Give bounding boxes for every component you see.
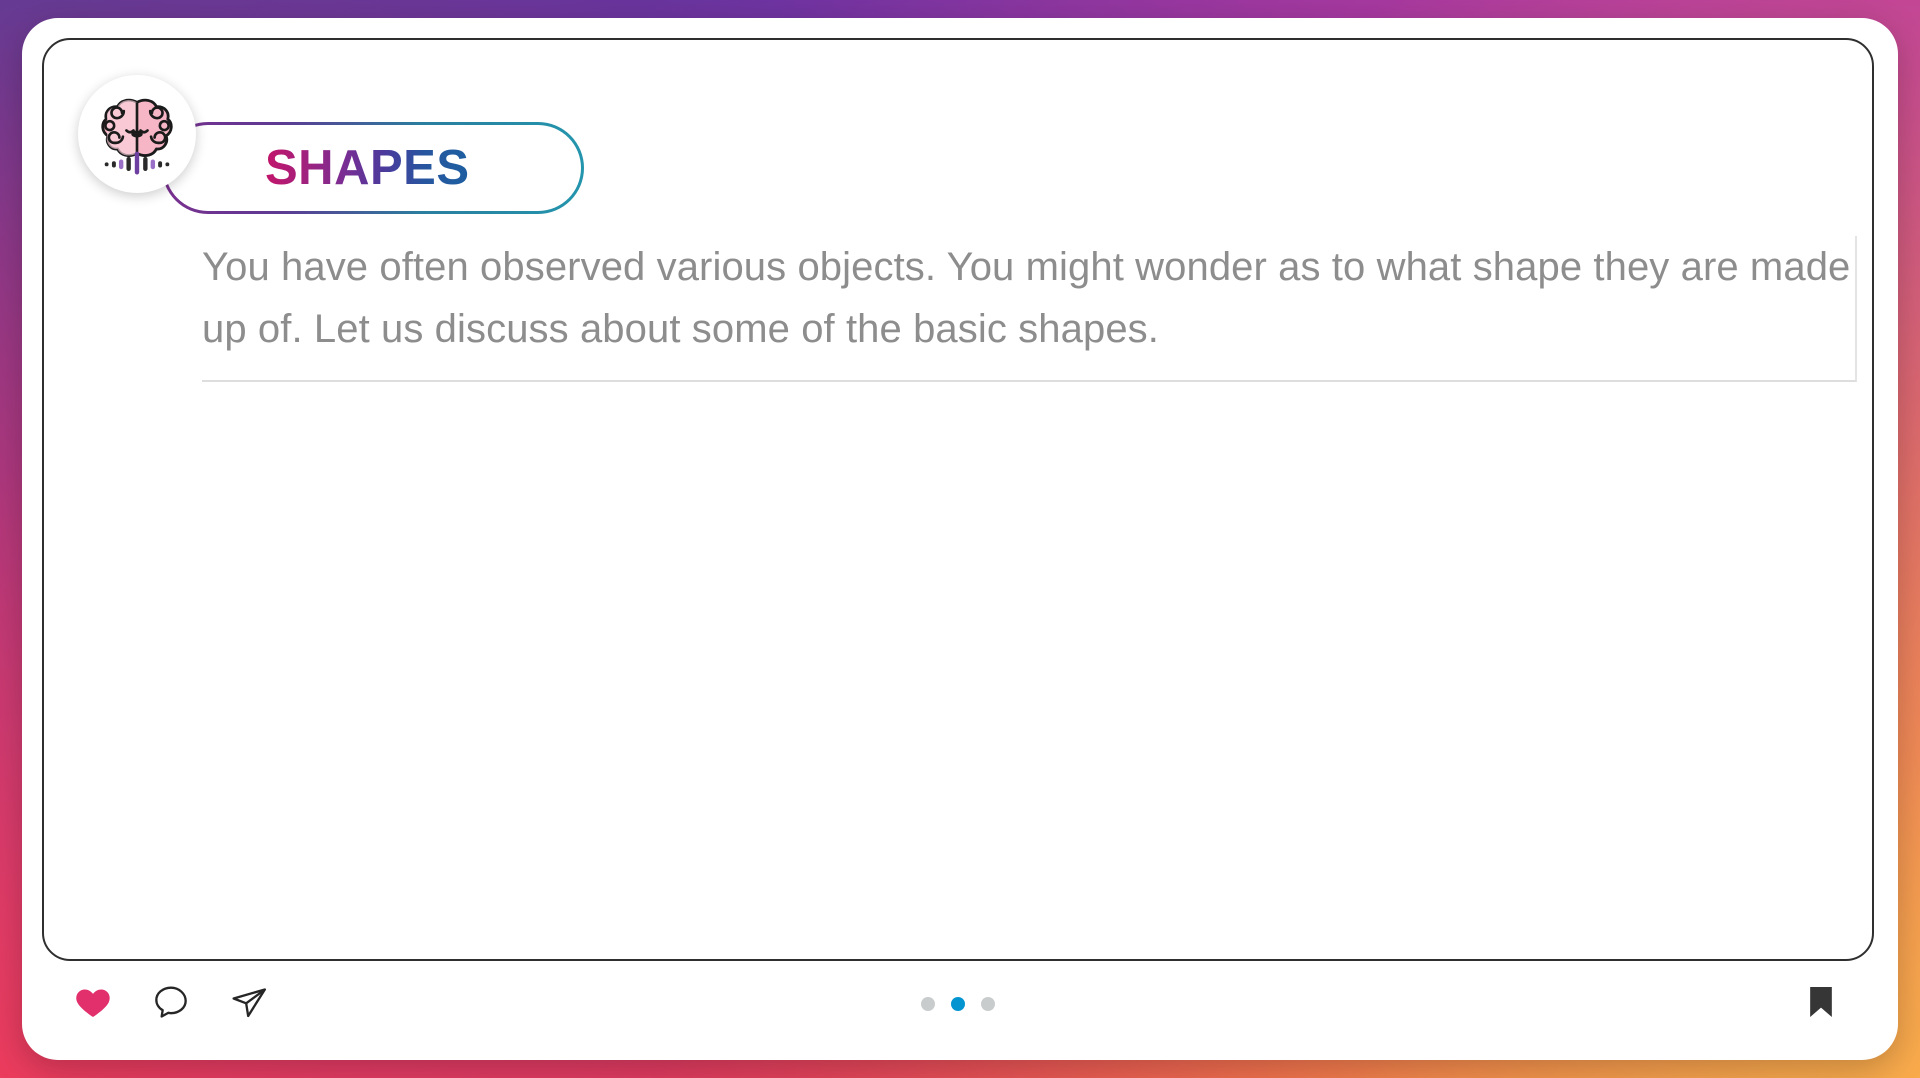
carousel-dot-3[interactable] xyxy=(981,997,995,1011)
save-button[interactable] xyxy=(1798,981,1844,1027)
brand-logo-badge xyxy=(78,75,196,193)
carousel-dots xyxy=(42,997,1874,1011)
post-action-bar xyxy=(42,973,1874,1053)
brain-waveform-icon xyxy=(93,90,181,178)
gradient-background: SHAPES xyxy=(0,0,1920,1078)
title-pill: SHAPES xyxy=(162,122,584,214)
post-card: SHAPES xyxy=(22,18,1898,1060)
page-title: SHAPES xyxy=(265,140,470,196)
carousel-dot-1[interactable] xyxy=(921,997,935,1011)
body-paragraph: You have often observed various objects.… xyxy=(202,236,1855,360)
carousel-dot-2[interactable] xyxy=(951,997,965,1011)
slide-body: You have often observed various objects.… xyxy=(202,236,1857,382)
bookmark-icon xyxy=(1801,982,1841,1027)
carousel-slide: SHAPES xyxy=(42,38,1874,961)
